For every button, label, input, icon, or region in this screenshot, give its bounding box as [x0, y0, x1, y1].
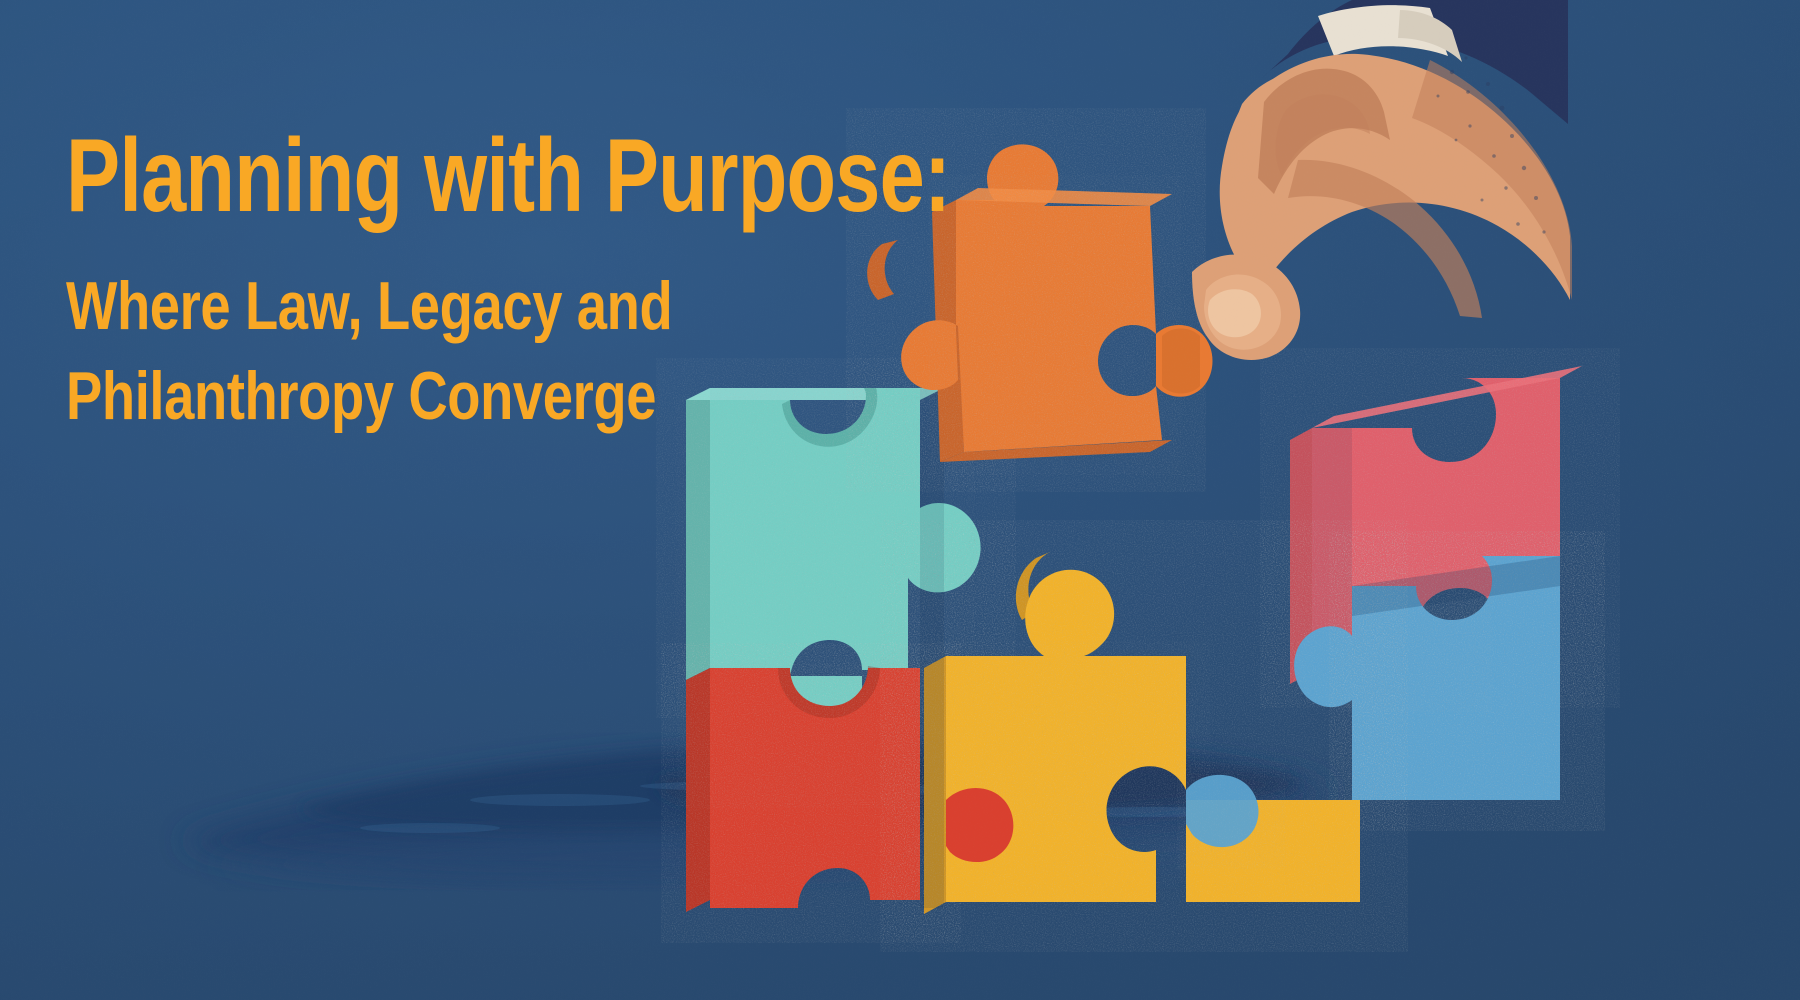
page-title: Planning with Purpose:: [66, 124, 846, 228]
hero-text-block: Planning with Purpose: Where Law, Legacy…: [66, 124, 1066, 442]
subtitle-line-1: Where Law, Legacy and: [66, 262, 866, 352]
subtitle-line-2: Philanthropy Converge: [66, 352, 866, 442]
hero-subtitle: Where Law, Legacy and Philanthropy Conve…: [66, 262, 1066, 442]
hero-banner: Planning with Purpose: Where Law, Legacy…: [0, 0, 1800, 1000]
